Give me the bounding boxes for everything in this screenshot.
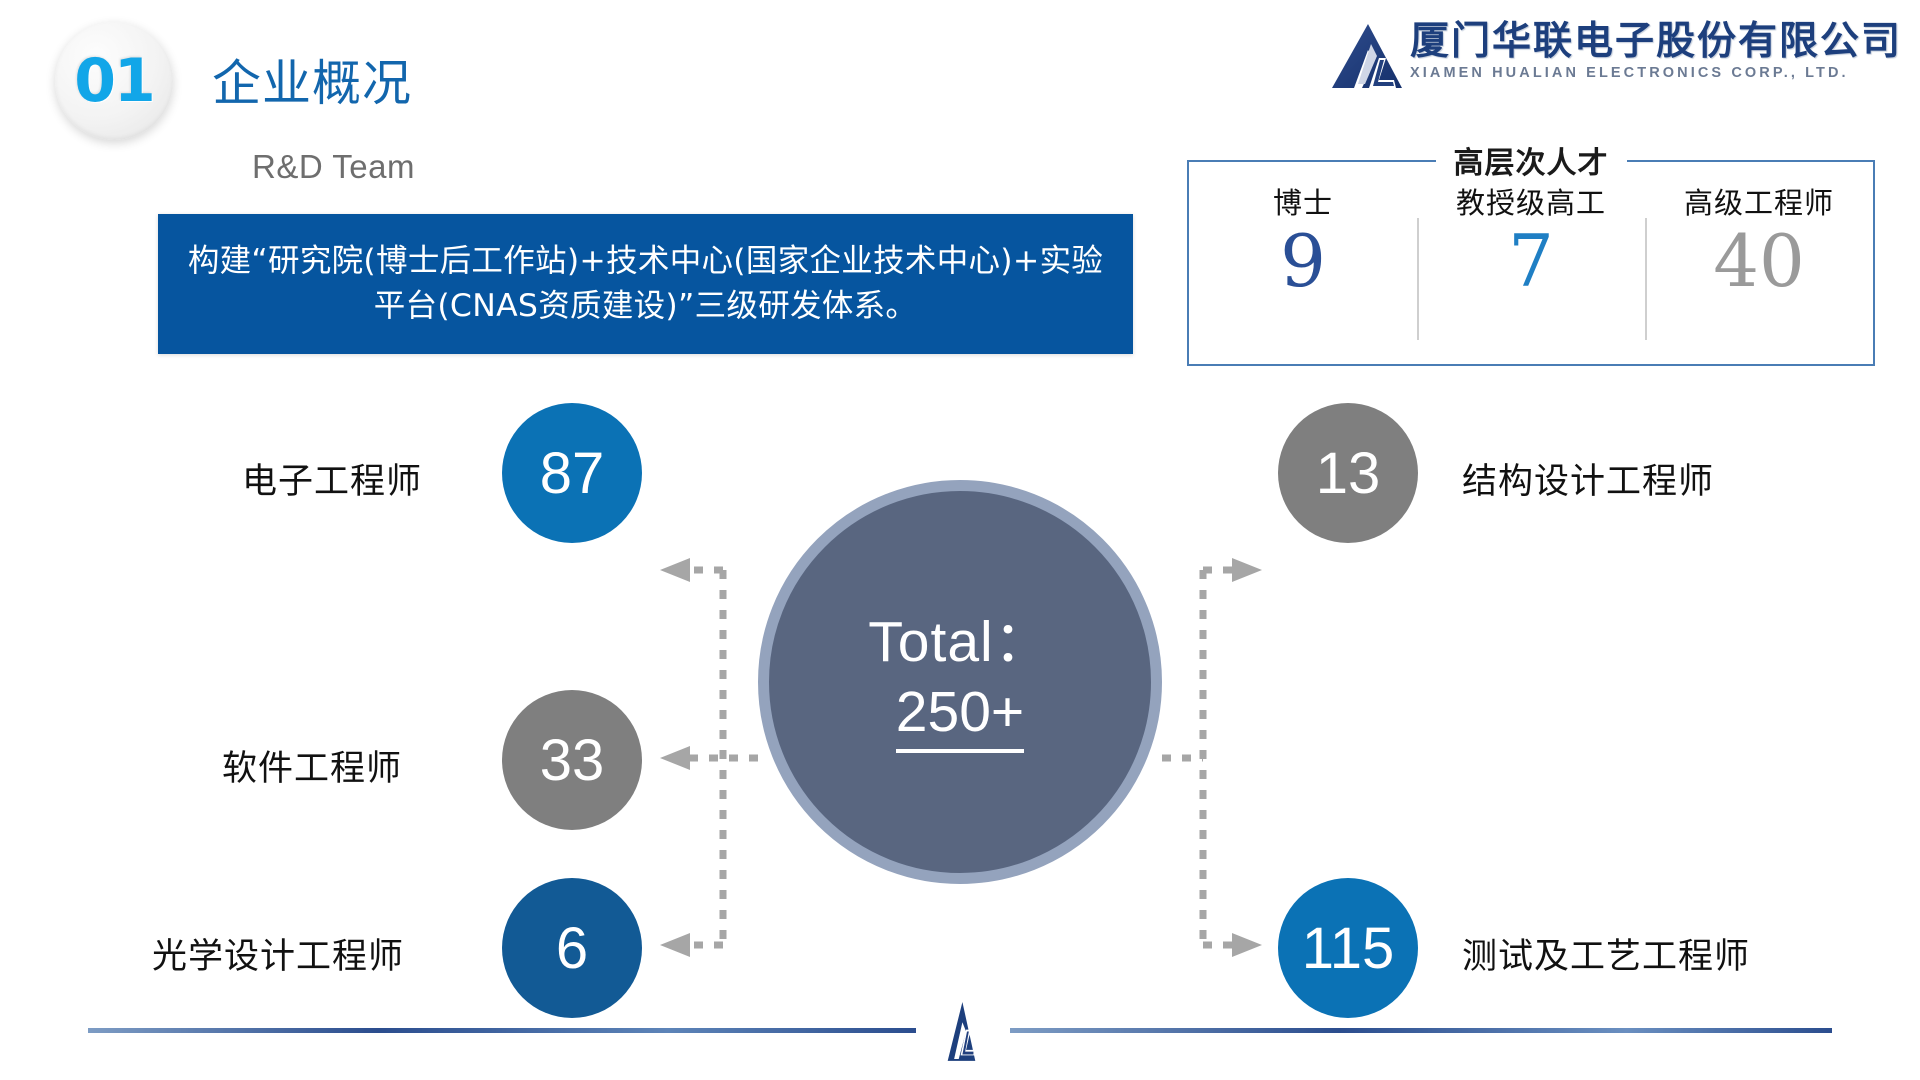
role-label-structural-design-engineer: 结构设计工程师 bbox=[1462, 453, 1714, 504]
footer-divider bbox=[0, 1000, 1920, 1080]
hualian-logo-icon bbox=[1324, 22, 1404, 92]
statement-text: 构建“研究院(博士后工作站)+技术中心(国家企业技术中心)+实验平台(CNAS资… bbox=[176, 239, 1115, 328]
company-name-en: XIAMEN HUALIAN ELECTRONICS CORP., LTD. bbox=[1410, 65, 1902, 81]
section-number: 01 bbox=[74, 46, 154, 116]
talent-label: 教授级高工 bbox=[1456, 180, 1606, 222]
section-number-badge: 01 bbox=[55, 22, 173, 140]
talent-column-doctor: 博士 9 bbox=[1189, 162, 1417, 364]
role-label-optical-design-engineer: 光学设计工程师 bbox=[152, 928, 404, 979]
talent-panel-title: 高层次人才 bbox=[1436, 146, 1627, 181]
total-circle: Total： 250+ bbox=[758, 480, 1162, 884]
role-circle-electronics-engineer: 87 bbox=[502, 403, 642, 543]
role-circle-optical-design-engineer: 6 bbox=[502, 878, 642, 1018]
talent-column-professor-engineer: 教授级高工 7 bbox=[1417, 162, 1645, 364]
page-title: 企业概况 bbox=[212, 44, 412, 115]
role-value: 33 bbox=[540, 727, 605, 794]
role-label-test-process-engineer: 测试及工艺工程师 bbox=[1462, 928, 1750, 979]
total-value: 250+ bbox=[896, 680, 1024, 754]
role-label-software-engineer: 软件工程师 bbox=[222, 740, 402, 791]
team-composition-diagram: Total： 250+ 87 电子工程师 33 软件工程师 6 光学设计工程师 … bbox=[0, 380, 1920, 1000]
talent-value: 9 bbox=[1280, 224, 1326, 300]
talent-panel-title-wrap: 高层次人才 bbox=[1187, 138, 1875, 182]
role-value: 115 bbox=[1302, 915, 1394, 982]
talent-value: 7 bbox=[1508, 224, 1554, 300]
role-value: 13 bbox=[1316, 440, 1381, 507]
talent-value: 40 bbox=[1713, 224, 1805, 300]
talent-column-senior-engineer: 高级工程师 40 bbox=[1645, 162, 1873, 364]
talent-label: 博士 bbox=[1273, 180, 1333, 222]
role-value: 87 bbox=[540, 440, 605, 507]
footer bbox=[0, 1000, 1920, 1080]
talent-panel: 博士 9 教授级高工 7 高级工程师 40 bbox=[1187, 160, 1875, 366]
slide-root: 01 企业概况 R&D Team 厦门华联电子股份有限公司 XIAMEN HUA… bbox=[0, 0, 1920, 1080]
statement-box: 构建“研究院(博士后工作站)+技术中心(国家企业技术中心)+实验平台(CNAS资… bbox=[158, 214, 1133, 354]
company-name-cn: 厦门华联电子股份有限公司 bbox=[1410, 22, 1902, 61]
role-circle-test-process-engineer: 115 bbox=[1278, 878, 1418, 1018]
role-circle-structural-design-engineer: 13 bbox=[1278, 403, 1418, 543]
page-subtitle: R&D Team bbox=[252, 148, 415, 186]
role-label-electronics-engineer: 电子工程师 bbox=[242, 453, 422, 504]
total-label: Total： bbox=[868, 611, 1051, 674]
company-logo: 厦门华联电子股份有限公司 XIAMEN HUALIAN ELECTRONICS … bbox=[1324, 22, 1902, 92]
talent-label: 高级工程师 bbox=[1684, 180, 1834, 222]
role-circle-software-engineer: 33 bbox=[502, 690, 642, 830]
role-value: 6 bbox=[556, 915, 588, 982]
